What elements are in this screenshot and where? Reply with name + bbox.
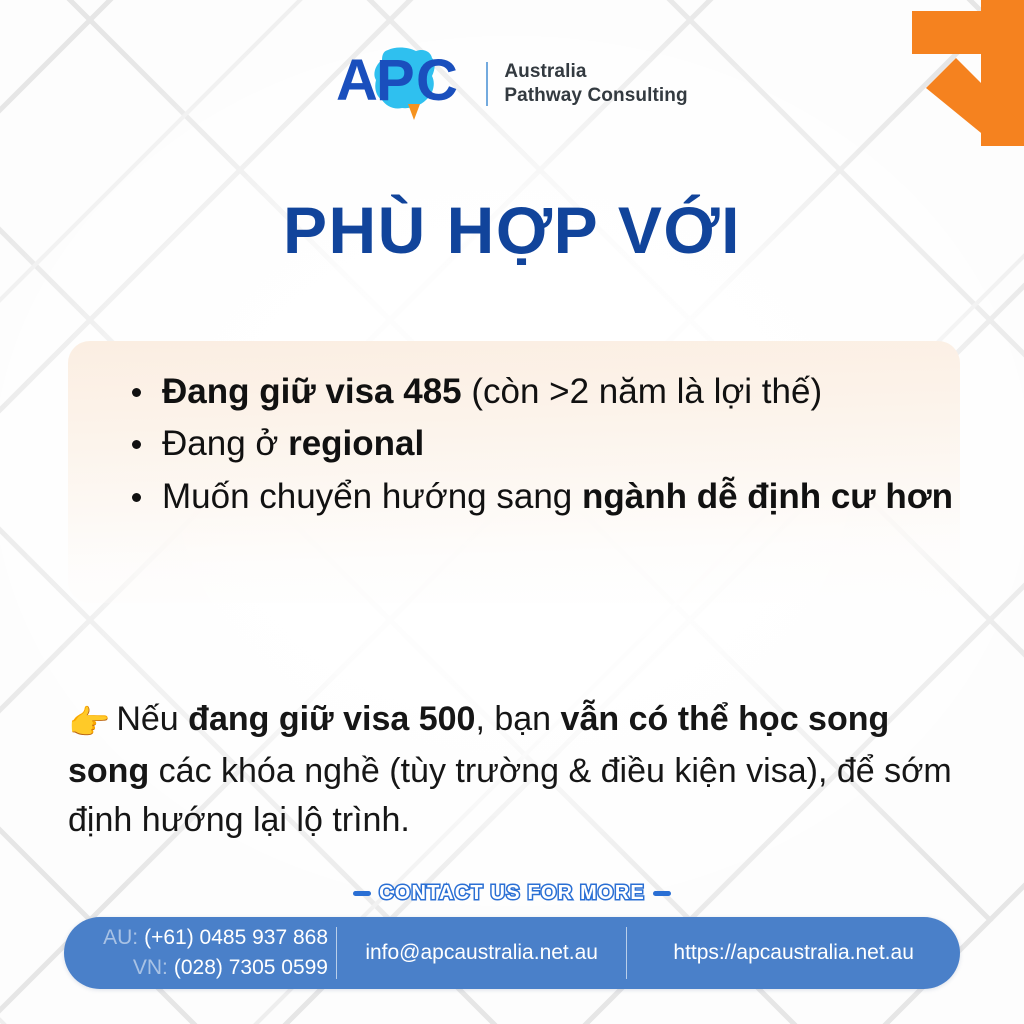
svg-text:A: A — [336, 48, 378, 113]
banner-dash-left-icon — [353, 891, 371, 896]
list-item: Đang ở regional — [128, 420, 958, 468]
bullet-dot-icon — [132, 493, 141, 502]
pointing-hand-icon: 👉 — [68, 699, 110, 747]
text-run: Muốn chuyển hướng sang — [162, 477, 582, 516]
text-run: các khóa nghề (tùy trường & điều kiện vi… — [68, 752, 952, 838]
contact-us-label: CONTACT US FOR MORE — [379, 882, 645, 905]
footer-website[interactable]: https://apcaustralia.net.au — [627, 917, 960, 989]
contact-footer-bar: AU: (+61) 0485 937 868 VN: (028) 7305 05… — [64, 917, 960, 989]
text-run: Đang ở — [162, 424, 288, 463]
text-run: , bạn — [475, 700, 560, 738]
apc-logo-mark: A P C — [336, 46, 470, 122]
phone-au-value[interactable]: (+61) 0485 937 868 — [144, 923, 328, 953]
brand-logo: A P C Australia Pathway Consulting — [0, 46, 1024, 122]
svg-text:P: P — [376, 48, 415, 113]
bullet-dot-icon — [132, 440, 141, 449]
phone-au-label: AU: — [103, 923, 138, 953]
page-title: PHÙ HỢP VỚI — [0, 192, 1024, 268]
text-run: Nếu — [116, 700, 188, 738]
list-item: Đang giữ visa 485 (còn >2 năm là lợi thế… — [128, 368, 958, 416]
text-emphasis: regional — [288, 424, 424, 463]
banner-dash-right-icon — [653, 891, 671, 896]
bullet-dot-icon — [132, 388, 141, 397]
logo-tagline-line1: Australia — [504, 60, 687, 84]
contact-us-banner: CONTACT US FOR MORE — [0, 882, 1024, 905]
text-run: (còn >2 năm là lợi thế) — [462, 372, 822, 411]
footer-email[interactable]: info@apcaustralia.net.au — [337, 917, 626, 989]
text-emphasis: ngành dễ định cư hơn — [582, 477, 953, 516]
svg-text:C: C — [416, 48, 458, 113]
phone-vn-value[interactable]: (028) 7305 0599 — [174, 953, 328, 983]
phone-vn-label: VN: — [133, 953, 168, 983]
poster-canvas: A P C Australia Pathway Consulting PHÙ H… — [0, 0, 1024, 1024]
footer-phones: AU: (+61) 0485 937 868 VN: (028) 7305 05… — [64, 917, 336, 989]
note-paragraph: 👉Nếu đang giữ visa 500, bạn vẫn có thể h… — [68, 695, 963, 844]
requirements-list: Đang giữ visa 485 (còn >2 năm là lợi thế… — [128, 368, 958, 525]
text-emphasis: Đang giữ visa 485 — [162, 372, 462, 411]
logo-divider — [486, 62, 488, 106]
logo-tagline-line2: Pathway Consulting — [504, 84, 687, 108]
text-emphasis: đang giữ visa 500 — [188, 700, 475, 738]
list-item: Muốn chuyển hướng sang ngành dễ định cư … — [128, 473, 958, 521]
